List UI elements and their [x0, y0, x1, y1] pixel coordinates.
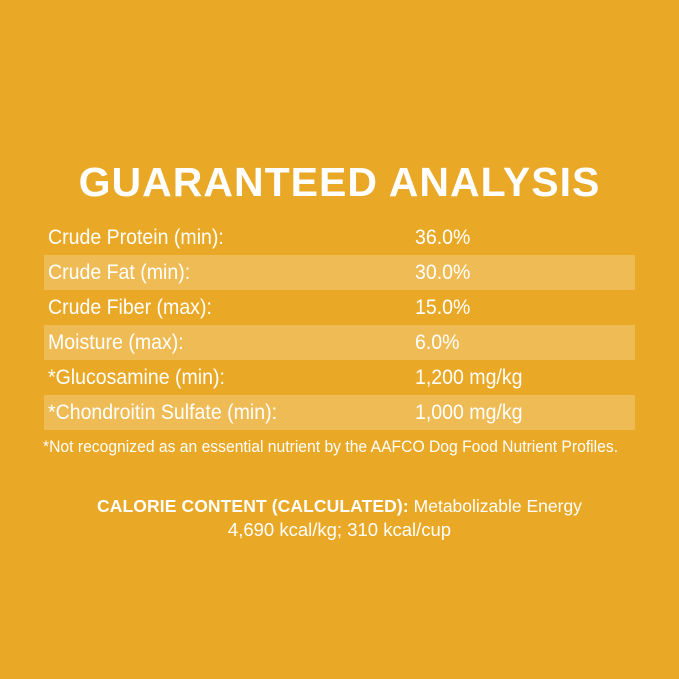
nutrient-label: Crude Fat (min): — [48, 261, 190, 285]
nutrient-value: 1,000 mg/kg — [415, 401, 522, 425]
calorie-content-values: 4,690 kcal/kg; 310 kcal/cup — [0, 518, 679, 542]
guaranteed-analysis-table: Crude Protein (min): 36.0% Crude Fat (mi… — [44, 220, 635, 430]
table-row: Crude Fiber (max): 15.0% — [44, 290, 635, 325]
nutrient-value: 1,200 mg/kg — [415, 366, 522, 390]
page-title: GUARANTEED ANALYSIS — [0, 160, 679, 204]
footnote-text: *Not recognized as an essential nutrient… — [43, 437, 613, 457]
table-row: Crude Fat (min): 30.0% — [44, 255, 635, 290]
calorie-content-heading: CALORIE CONTENT (CALCULATED): — [97, 496, 409, 516]
nutrient-value: 6.0% — [415, 331, 460, 355]
nutrient-value: 15.0% — [415, 296, 470, 320]
nutrient-value: 30.0% — [415, 261, 470, 285]
calorie-content-block: CALORIE CONTENT (CALCULATED): Metaboliza… — [0, 494, 679, 542]
calorie-content-line-1: CALORIE CONTENT (CALCULATED): Metaboliza… — [0, 494, 679, 518]
nutrient-label: Crude Fiber (max): — [48, 296, 212, 320]
table-row: *Chondroitin Sulfate (min): 1,000 mg/kg — [44, 395, 635, 430]
table-row: Moisture (max): 6.0% — [44, 325, 635, 360]
calorie-content-descriptor: Metabolizable Energy — [414, 496, 582, 516]
table-row: *Glucosamine (min): 1,200 mg/kg — [44, 360, 635, 395]
guaranteed-analysis-panel: GUARANTEED ANALYSIS Crude Protein (min):… — [0, 0, 679, 679]
nutrient-label: *Glucosamine (min): — [48, 366, 225, 390]
nutrient-label: Moisture (max): — [48, 331, 184, 355]
nutrient-label: *Chondroitin Sulfate (min): — [48, 401, 277, 425]
table-row: Crude Protein (min): 36.0% — [44, 220, 635, 255]
nutrient-value: 36.0% — [415, 226, 470, 250]
nutrient-label: Crude Protein (min): — [48, 226, 224, 250]
